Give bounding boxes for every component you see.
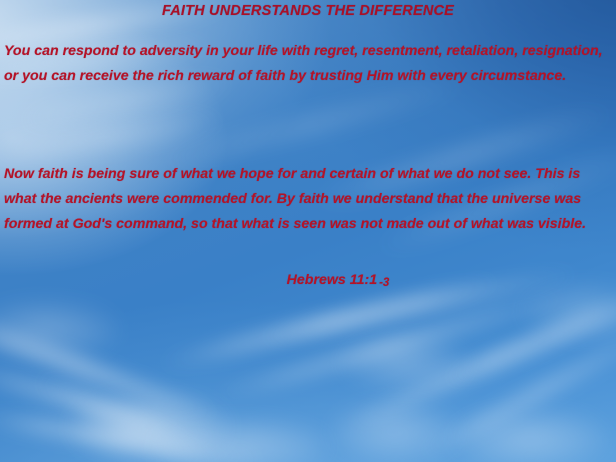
slide-headline: FAITH UNDERSTANDS THE DIFFERENCE bbox=[0, 3, 616, 19]
slide-text-layer: FAITH UNDERSTANDS THE DIFFERENCE You can… bbox=[0, 0, 616, 462]
devotional-slide: FAITH UNDERSTANDS THE DIFFERENCE You can… bbox=[0, 0, 616, 462]
scripture-attribution: Hebrews 11:1-3 bbox=[0, 272, 616, 288]
scripture-verse-range: -3 bbox=[379, 277, 389, 289]
body-paragraph-2: Now faith is being sure of what we hope … bbox=[4, 162, 612, 237]
scripture-reference: Hebrews 11:1 bbox=[287, 272, 377, 288]
body-paragraph-1: You can respond to adversity in your lif… bbox=[4, 39, 612, 89]
